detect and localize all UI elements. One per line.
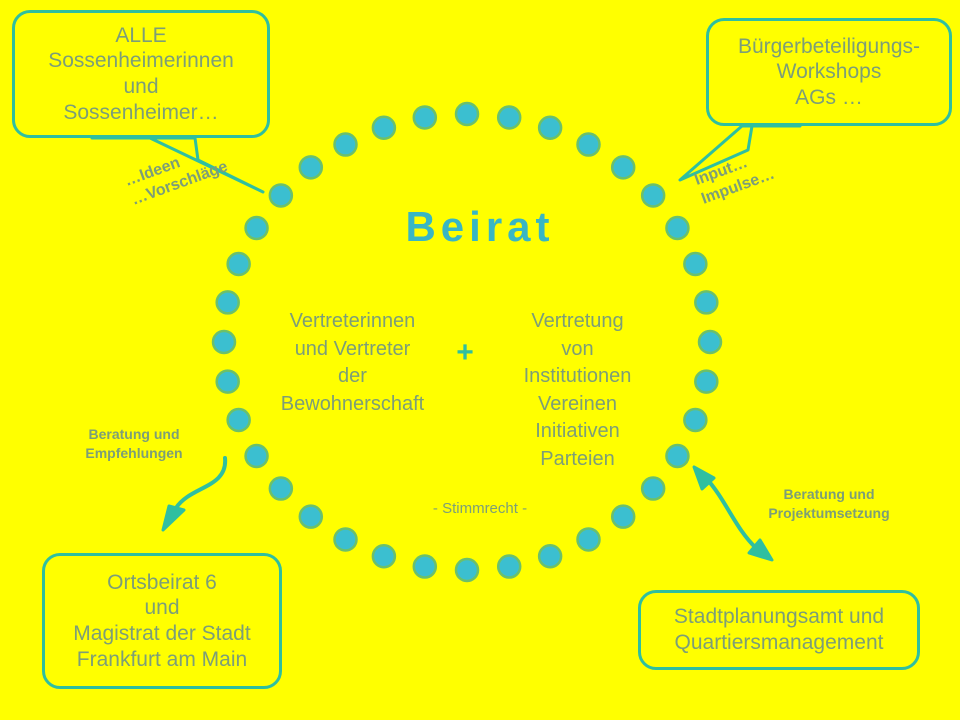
ortsbeirat-line-2: und <box>45 595 279 621</box>
ortsbeirat-line-3: Magistrat der Stadt <box>45 621 279 647</box>
callout-all-line-4: Sossenheimer… <box>15 100 267 126</box>
ring-dot <box>578 528 600 550</box>
ring-dot <box>213 331 235 353</box>
ring-dot <box>642 478 664 500</box>
council-right-line-6: Parteien <box>490 446 665 474</box>
council-right-line-3: Institutionen <box>490 363 665 391</box>
ring-dot <box>300 156 322 178</box>
ring-dot <box>335 528 357 550</box>
ring-dot <box>217 371 239 393</box>
council-right-line-1: Vertretung <box>490 308 665 336</box>
council-left-line-1: Vertreterinnen <box>265 308 440 336</box>
ring-dot <box>217 291 239 313</box>
council-left-column: Vertreterinnen und Vertreter der Bewohne… <box>265 308 440 418</box>
stadtplanung-line-2: Quartiersmanagement <box>641 630 917 656</box>
council-right-line-4: Vereinen <box>490 391 665 419</box>
ring-dot <box>228 253 250 275</box>
ring-dot <box>456 559 478 581</box>
label-beratung-empfehlungen: Beratung und Empfehlungen <box>64 425 204 463</box>
council-left-line-2: und Vertreter <box>265 336 440 364</box>
ring-dot <box>228 409 250 431</box>
label-beratung-projektumsetzung: Beratung und Projektumsetzung <box>744 485 914 523</box>
ortsbeirat-line-1: Ortsbeirat 6 <box>45 570 279 596</box>
beratung-proj-line-2: Projektumsetzung <box>744 504 914 523</box>
stadtplanung-line-1: Stadtplanungsamt und <box>641 604 917 630</box>
ring-dot <box>335 134 357 156</box>
council-right-line-2: von <box>490 336 665 364</box>
ring-dot <box>373 117 395 139</box>
council-right-line-5: Initiativen <box>490 418 665 446</box>
ring-dot <box>414 106 436 128</box>
ring-dot <box>578 134 600 156</box>
plus-icon: + <box>440 308 490 370</box>
council-composition: Vertreterinnen und Vertreter der Bewohne… <box>255 308 675 474</box>
ortsbeirat-line-4: Frankfurt am Main <box>45 647 279 673</box>
council-left-line-3: der <box>265 363 440 391</box>
ring-dot <box>684 253 706 275</box>
callout-all-line-2: Sossenheimerinnen <box>15 48 267 74</box>
box-ortsbeirat-magistrat[interactable]: Ortsbeirat 6 und Magistrat der Stadt Fra… <box>42 553 282 689</box>
ring-dot <box>270 478 292 500</box>
beratung-empf-line-2: Empfehlungen <box>64 444 204 463</box>
ring-dot <box>695 371 717 393</box>
callout-participation-line-1: Bürgerbeteiligungs- <box>709 34 949 60</box>
beratung-empf-line-1: Beratung und <box>64 425 204 444</box>
ring-dot <box>612 156 634 178</box>
page-title: Beirat <box>0 203 960 251</box>
callout-box-participation-formats[interactable]: Bürgerbeteiligungs- Workshops AGs … <box>706 18 952 126</box>
beratung-proj-line-1: Beratung und <box>744 485 914 504</box>
callout-participation-line-3: AGs … <box>709 85 949 111</box>
callout-participation-line-2: Workshops <box>709 59 949 85</box>
callout-all-line-3: und <box>15 74 267 100</box>
ring-dot <box>414 556 436 578</box>
ring-dot <box>695 291 717 313</box>
ring-dot <box>456 103 478 125</box>
ring-dot <box>373 545 395 567</box>
callout-all-line-1: ALLE <box>15 23 267 49</box>
ring-dot <box>699 331 721 353</box>
callout-box-all-residents[interactable]: ALLE Sossenheimerinnen und Sossenheimer… <box>12 10 270 138</box>
ring-dot <box>539 545 561 567</box>
diagram-canvas: Beirat Vertreterinnen und Vertreter der … <box>0 0 960 720</box>
ring-dot <box>684 409 706 431</box>
box-stadtplanungsamt-quartiersmanagement[interactable]: Stadtplanungsamt und Quartiersmanagement <box>638 590 920 670</box>
council-left-line-4: Bewohnerschaft <box>265 391 440 419</box>
council-right-column: Vertretung von Institutionen Vereinen In… <box>490 308 665 474</box>
ring-dot <box>539 117 561 139</box>
ring-dot <box>498 556 520 578</box>
ring-dot <box>498 106 520 128</box>
